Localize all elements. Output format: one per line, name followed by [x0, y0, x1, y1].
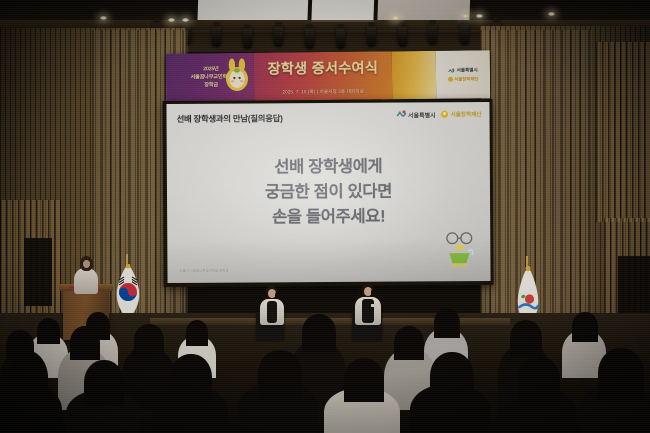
ceiling-downlight	[168, 18, 175, 22]
stage-spotlight	[367, 26, 376, 47]
audience-head	[134, 324, 164, 358]
slide-seoul-label: 서울특별시	[408, 110, 436, 119]
photo-scene: 2025년 서울꿈나무교민학생 장학금 장학생 증서수여식 2025. 7. 1…	[0, 0, 650, 433]
seoul-city-logo-icon	[396, 110, 406, 120]
stage-spotlight	[428, 24, 437, 45]
foundation-logo-icon	[448, 77, 453, 82]
slide-line-3: 손을 들어주세요!	[167, 204, 490, 231]
taegukgi-icon	[112, 264, 144, 320]
panelist-vest	[267, 301, 277, 323]
stage-spotlight	[274, 26, 283, 47]
slide-footer: 서울시 서울꿈나무교민학생 장학금	[179, 268, 228, 273]
ceiling-downlight	[548, 12, 555, 16]
stage-spotlight	[336, 28, 345, 49]
projection-screen-frame: 선배 장학생과의 만남(질의응답) 서울특별시 서울장학재단	[162, 99, 493, 287]
audience-head	[518, 356, 560, 404]
slide-header: 선배 장학생과의 만남(질의응답)	[177, 112, 283, 125]
stage-spotlight	[398, 26, 407, 47]
lighting-truss	[140, 30, 500, 32]
acoustic-panel	[311, 0, 374, 22]
foundation-logo-label: 서울장학재단	[454, 76, 478, 82]
wall-recess	[24, 238, 52, 306]
moderator-body	[74, 268, 98, 294]
seoul-logo-label: 서울특별시	[457, 67, 478, 73]
slide-line-1: 선배 장학생에게	[167, 154, 490, 181]
audience-head	[84, 360, 124, 406]
acoustic-panel	[197, 0, 308, 20]
audience-head	[186, 320, 208, 346]
ceiling-downlight	[476, 14, 483, 18]
moderator-face	[83, 260, 90, 268]
audience-head	[598, 348, 644, 400]
seoul-logo: 서울특별시	[448, 67, 478, 74]
banner-logo-section: 서울특별시 서울장학재단	[436, 50, 490, 99]
panelist-vest	[362, 299, 374, 323]
banner-purple-section: 2025년 서울꿈나무교민학생 장학금	[166, 53, 254, 102]
seoul-city-logo-icon	[448, 67, 455, 74]
slide-logos: 서울특별시 서울장학재단	[396, 109, 482, 120]
ceiling-downlight	[392, 16, 399, 20]
ceiling-downlight	[100, 16, 107, 20]
slide-foundation-label: 서울장학재단	[451, 110, 482, 118]
audience-head	[302, 314, 336, 352]
audience-head	[434, 308, 460, 338]
audience-head	[170, 354, 212, 402]
audience-head	[8, 356, 48, 400]
projection-screen: 선배 장학생과의 만남(질의응답) 서울특별시 서울장학재단	[166, 102, 490, 283]
audience-head	[258, 350, 302, 400]
foundation-logo-icon	[441, 110, 449, 118]
audience-head	[344, 358, 384, 402]
korean-flag	[110, 258, 144, 320]
audience-head	[430, 352, 474, 402]
name-tag	[371, 304, 375, 307]
audience-head	[37, 318, 60, 344]
ceiling-downlight	[462, 14, 469, 18]
audience-head	[70, 326, 100, 360]
slide-foundation-logo: 서울장학재단	[441, 110, 482, 118]
event-banner: 2025년 서울꿈나무교민학생 장학금 장학생 증서수여식 2025. 7. 1…	[166, 50, 490, 101]
banner-subtitle: 2025. 7. 10.(목) | 서울시청 3층 대회의실	[282, 89, 364, 96]
wood-acoustic-panel	[596, 42, 650, 222]
stage-spotlight	[243, 28, 252, 49]
audience-head	[572, 312, 598, 342]
audience-head	[394, 326, 424, 360]
audience-head	[510, 320, 542, 356]
bunny-mascot-icon	[224, 57, 250, 97]
stage-spotlight	[305, 28, 314, 49]
slide-body: 선배 장학생에게 궁금한 점이 있다면 손을 들어주세요!	[167, 154, 490, 231]
banner-title: 장학생 증서수여식	[268, 57, 379, 78]
stage-spotlight	[212, 26, 221, 47]
foundation-logo: 서울장학재단	[448, 76, 479, 82]
ceiling-downlight	[182, 18, 189, 22]
banner-yellow-section	[392, 51, 437, 99]
banner-title-section: 장학생 증서수여식 2025. 7. 10.(목) | 서울시청 3층 대회의실	[254, 51, 392, 100]
slide-line-2: 궁금한 점이 있다면	[167, 179, 490, 206]
student-with-glasses-icon	[442, 231, 476, 267]
stage-spotlight	[460, 24, 469, 45]
slide-seoul-logo: 서울특별시	[396, 109, 436, 119]
